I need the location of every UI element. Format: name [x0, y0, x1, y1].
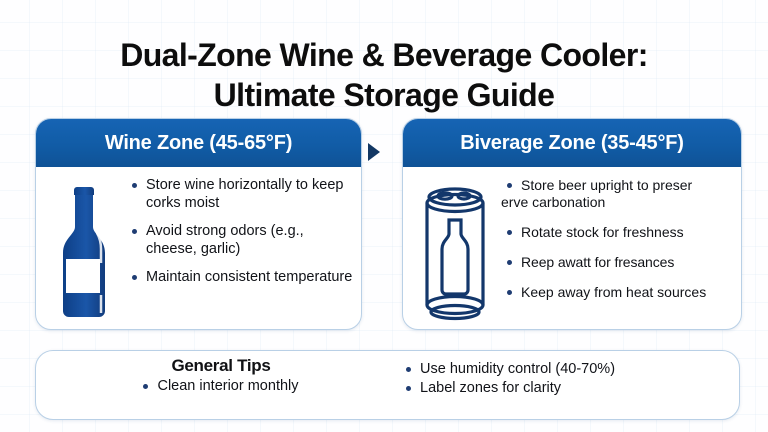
list-item: Use humidity control (40-70%) — [406, 360, 739, 379]
general-tips-list-right: Use humidity control (40-70%) Label zone… — [406, 360, 739, 398]
page-title: Dual-Zone Wine & Beverage Cooler: Ultima… — [0, 35, 768, 115]
list-item: Label zones for clarity — [406, 379, 739, 398]
wine-bottle-icon — [36, 175, 132, 323]
zone-header-beverage: Biverage Zone (35-45°F) — [403, 119, 741, 167]
zone-body-beverage: Store beer upright to preser erve carbon… — [403, 167, 741, 328]
general-tips-list-left: Clean interior monthly — [36, 377, 406, 396]
list-item: Reep awatt for fresances — [507, 254, 739, 271]
list-item: Store beer upright to preser erve carbon… — [507, 177, 739, 211]
title-line-1: Dual-Zone Wine & Beverage Cooler: — [120, 37, 648, 73]
arrow-right-icon — [368, 143, 380, 161]
list-item: Store wine horizontally to keep corks mo… — [132, 177, 355, 212]
list-item-line-1: Store beer upright to preser — [521, 177, 692, 193]
zone-tip-list-beverage: Store beer upright to preser erve carbon… — [507, 175, 741, 314]
general-tips-left: General Tips Clean interior monthly — [36, 351, 406, 419]
beverage-can-icon — [403, 175, 507, 325]
list-item: Rotate stock for freshness — [507, 224, 739, 241]
general-tips-right: Use humidity control (40-70%) Label zone… — [406, 351, 739, 419]
general-tips-panel[interactable]: General Tips Clean interior monthly Use … — [35, 350, 740, 420]
title-line-2: Ultimate Storage Guide — [0, 75, 768, 115]
zone-body-wine: Store wine horizontally to keep corks mo… — [36, 167, 361, 328]
list-item-line-2: erve carbonation — [501, 194, 739, 211]
list-item: Maintain consistent temperature — [132, 269, 355, 287]
list-item: Keep away from heat sources — [507, 284, 739, 301]
zone-tip-list-wine: Store wine horizontally to keep corks mo… — [132, 175, 361, 298]
general-tips-heading: General Tips — [36, 356, 406, 376]
list-item: Clean interior monthly — [143, 377, 298, 396]
list-item: Avoid strong odors (e.g., cheese, garlic… — [132, 223, 355, 258]
zone-card-beverage[interactable]: Biverage Zone (35-45°F) — [402, 118, 742, 330]
zone-header-wine: Wine Zone (45-65°F) — [36, 119, 361, 167]
infographic-canvas: Dual-Zone Wine & Beverage Cooler: Ultima… — [0, 0, 768, 432]
zone-card-wine[interactable]: Wine Zone (45-65°F) — [35, 118, 362, 330]
